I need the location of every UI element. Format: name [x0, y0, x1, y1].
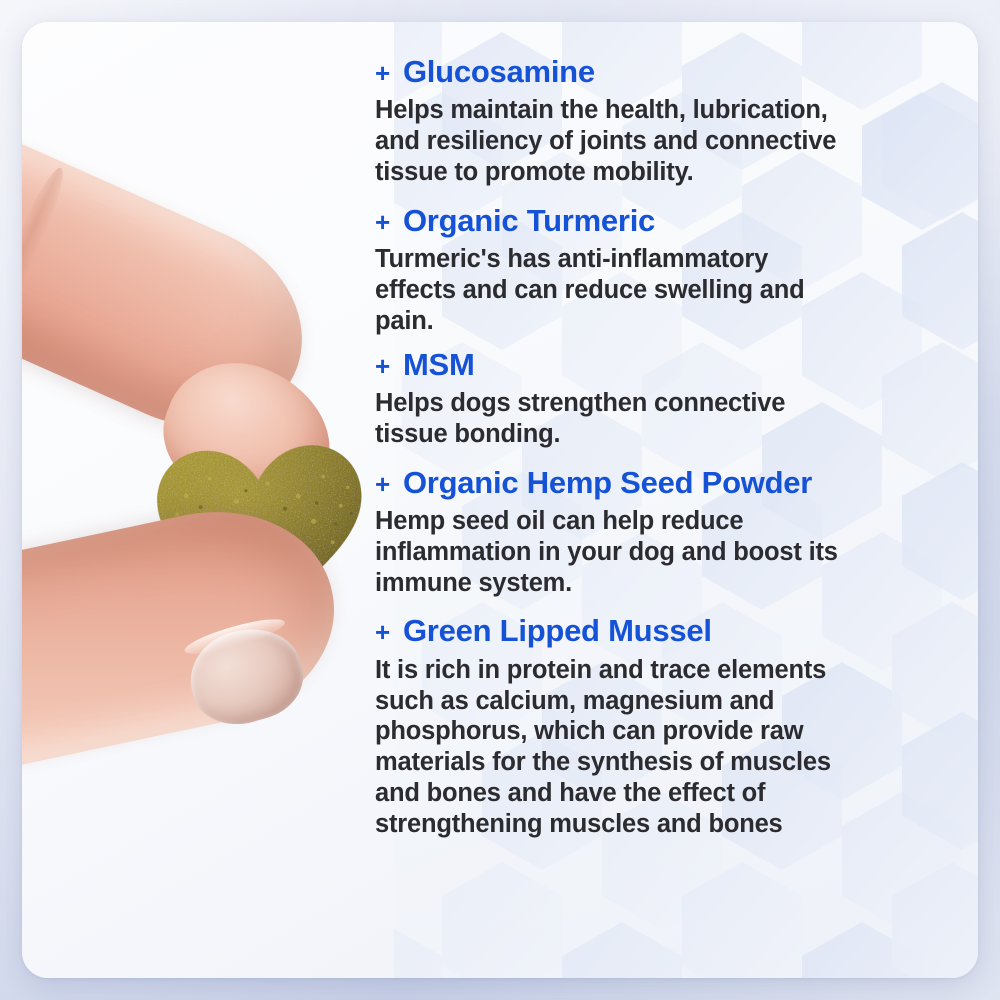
ingredient-item-green-lipped-mussel: + Green Lipped Mussel It is rich in prot…	[375, 611, 955, 839]
plus-icon: +	[375, 353, 390, 379]
ingredient-heading: + Organic Hemp Seed Powder	[375, 463, 955, 503]
plus-icon: +	[375, 471, 390, 497]
plus-icon: +	[375, 209, 390, 235]
ingredient-name: Green Lipped Mussel	[403, 611, 712, 651]
ingredient-heading: + Organic Turmeric	[375, 201, 955, 241]
ingredient-item-organic-turmeric: + Organic Turmeric Turmeric's has anti-i…	[375, 201, 955, 337]
ingredient-description: It is rich in protein and trace elements…	[375, 655, 955, 840]
ingredient-heading: + Glucosamine	[375, 52, 955, 92]
ingredient-name: Organic Hemp Seed Powder	[403, 463, 812, 503]
plus-icon: +	[375, 60, 390, 86]
ingredient-item-organic-hemp-seed-powder: + Organic Hemp Seed Powder Hemp seed oil…	[375, 463, 955, 599]
ingredient-description: Helps maintain the health, lubrication, …	[375, 95, 955, 188]
page-root: + Glucosamine Helps maintain the health,…	[0, 0, 1000, 1000]
ingredient-description: Turmeric's has anti-inflammatory effects…	[375, 244, 955, 337]
ingredient-heading: + MSM	[375, 345, 955, 385]
ingredient-heading: + Green Lipped Mussel	[375, 611, 955, 651]
section-spacer	[375, 452, 955, 463]
ingredient-description: Hemp seed oil can help reduce inflammati…	[375, 506, 955, 599]
ingredient-item-glucosamine: + Glucosamine Helps maintain the health,…	[375, 52, 955, 188]
ingredient-list: + Glucosamine Helps maintain the health,…	[375, 52, 955, 952]
ingredient-name: Organic Turmeric	[403, 201, 655, 241]
ingredient-name: Glucosamine	[403, 52, 595, 92]
ingredient-description: Helps dogs strengthen connective tissue …	[375, 388, 955, 450]
product-photo	[22, 22, 394, 978]
ingredient-name: MSM	[403, 345, 475, 385]
plus-icon: +	[375, 619, 390, 645]
product-info-card: + Glucosamine Helps maintain the health,…	[22, 22, 978, 978]
section-spacer	[375, 600, 955, 611]
ingredient-item-msm: + MSM Helps dogs strengthen connective t…	[375, 345, 955, 450]
section-spacer	[375, 190, 955, 201]
